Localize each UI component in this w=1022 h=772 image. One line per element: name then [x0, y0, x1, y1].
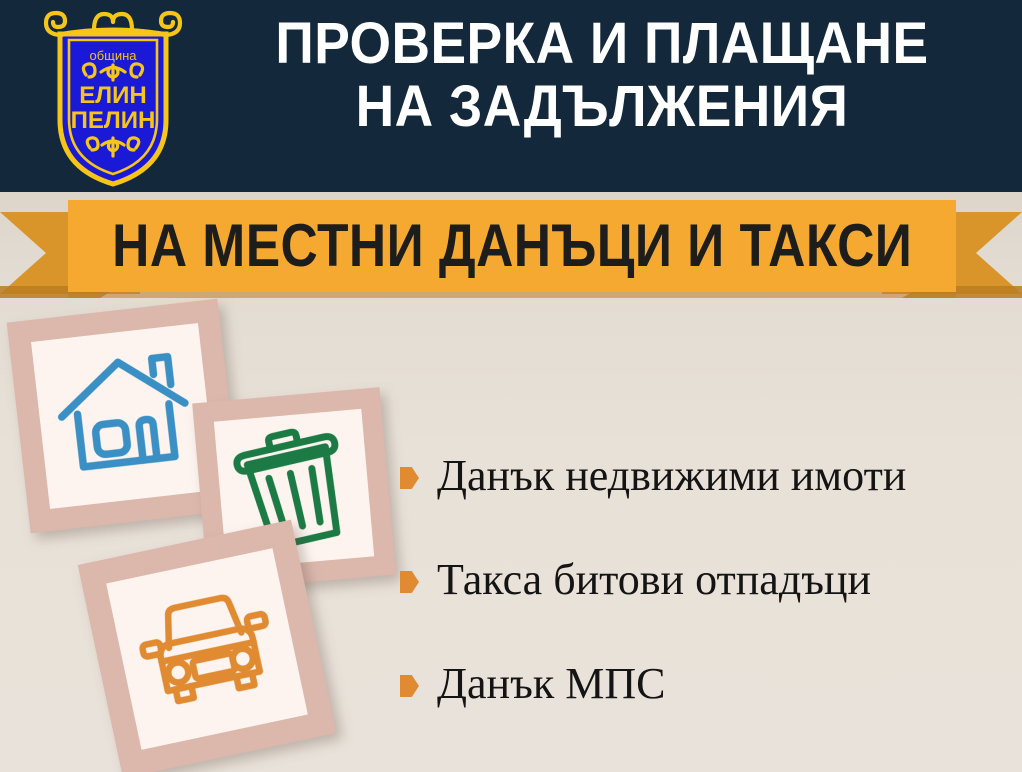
list-item-label: Данък недвижими имоти: [437, 453, 906, 499]
arrow-bullet-icon: [400, 571, 419, 593]
coat-of-arms-graphic: община ЕЛИН ПЕЛИН: [42, 8, 184, 188]
list-item-label: Данък МПС: [437, 661, 665, 707]
list-item-label: Такса битови отпадъци: [437, 557, 871, 603]
list-item[interactable]: Данък недвижими имоти: [400, 424, 1010, 528]
crest-label-line2: ПЕЛИН: [71, 107, 156, 134]
list-item[interactable]: Такса битови отпадъци: [400, 528, 1010, 632]
page-title: ПРОВЕРКА И ПЛАЩАНЕ НА ЗАДЪЛЖЕНИЯ: [196, 16, 1008, 142]
tax-type-list: Данък недвижими имоти Такса битови отпад…: [400, 424, 1010, 736]
header-bar: община ЕЛИН ПЕЛИН: [0, 0, 1022, 192]
stamp-illustration-group: [0, 290, 420, 760]
crest-label-line1: ЕЛИН: [79, 82, 146, 109]
coat-of-arms: община ЕЛИН ПЕЛИН: [42, 8, 184, 188]
stamp-vehicle-graphic: [78, 520, 337, 772]
subtitle-ribbon: НА МЕСТНИ ДАНЪЦИ И ТАКСИ: [0, 200, 1022, 304]
stamp-vehicle: [78, 520, 337, 772]
ribbon-band: НА МЕСТНИ ДАНЪЦИ И ТАКСИ: [68, 200, 956, 292]
poster-root: община ЕЛИН ПЕЛИН: [0, 0, 1022, 772]
arrow-bullet-icon: [400, 467, 419, 489]
crest-label-top: община: [89, 48, 137, 63]
title-line-2: НА ЗАДЪЛЖЕНИЯ: [228, 79, 975, 134]
arrow-bullet-icon: [400, 675, 419, 697]
ribbon-text: НА МЕСТНИ ДАНЪЦИ И ТАКСИ: [112, 216, 912, 276]
list-item[interactable]: Данък МПС: [400, 632, 1010, 736]
title-line-1: ПРОВЕРКА И ПЛАЩАНЕ: [228, 16, 975, 71]
